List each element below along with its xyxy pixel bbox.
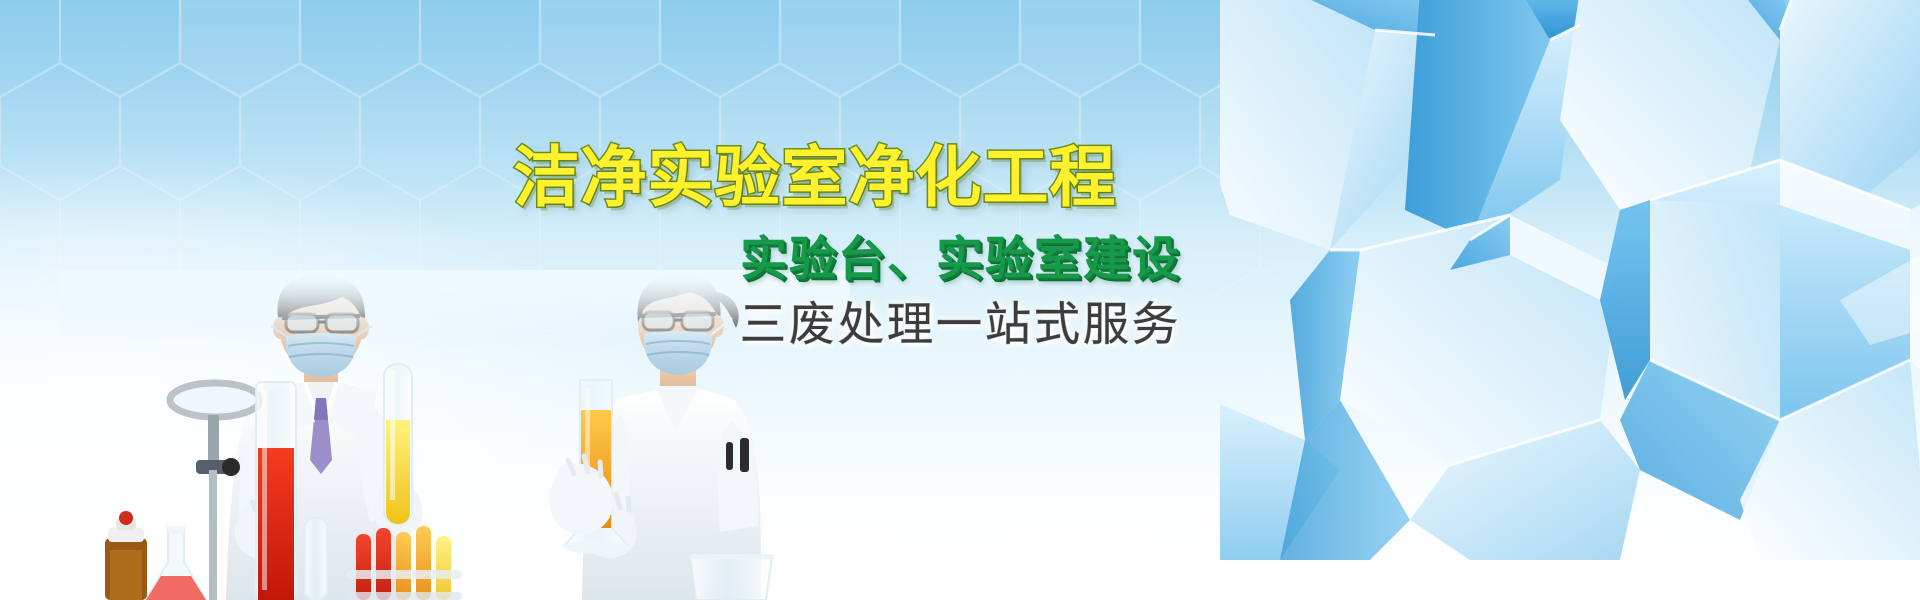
erlenmeyer-flask xyxy=(146,526,206,600)
crystal-panel-icon xyxy=(1220,0,1920,560)
banner-copy: 洁净实验室净化工程 实验台、实验室建设 三废处理一站式服务 xyxy=(445,140,1185,352)
yellow-test-tube xyxy=(384,364,412,524)
red-liquid-column xyxy=(256,382,296,600)
banner-headline: 洁净实验室净化工程 xyxy=(445,140,1185,214)
beaker xyxy=(690,554,774,600)
banner-subline: 实验台、实验室建设 xyxy=(445,232,1185,286)
clear-test-tube xyxy=(305,518,327,600)
amber-reagent-bottle xyxy=(105,511,147,600)
hero-banner: 洁净实验室净化工程 实验台、实验室建设 三废处理一站式服务 xyxy=(0,0,1920,600)
pocket-pen xyxy=(740,438,749,472)
banner-tagline: 三废处理一站式服务 xyxy=(445,296,1185,352)
test-tube-rack xyxy=(346,526,462,600)
